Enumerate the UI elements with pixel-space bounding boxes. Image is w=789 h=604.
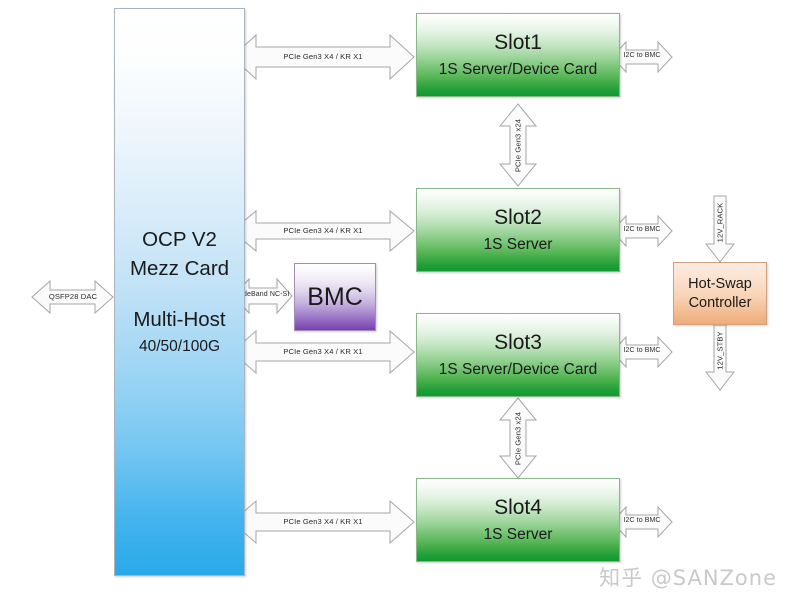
hot-swap-controller-block[interactable]: Hot-Swap Controller [673, 262, 767, 325]
mezz-card-line1: OCP V2 [142, 225, 217, 254]
slot3-subtitle: 1S Server/Device Card [439, 357, 598, 382]
slot4-block[interactable]: Slot4 1S Server [416, 478, 620, 562]
slot1-title: Slot1 [494, 29, 542, 57]
slot2-block[interactable]: Slot2 1S Server [416, 188, 620, 272]
hotswap-line2: Controller [689, 294, 752, 313]
i2c-slot4-label: I2C to BMC [613, 517, 671, 524]
pcie-slot1-label: PCIe Gen3 X4 / KR X1 [253, 52, 393, 61]
slot3-block[interactable]: Slot3 1S Server/Device Card [416, 313, 620, 397]
mezz-card-line4: 40/50/100G [139, 334, 220, 360]
power-out-label: 12V_STBY [716, 324, 725, 378]
i2c-slot3-label: I2C to BMC [613, 347, 671, 354]
i2c-slot2-label: I2C to BMC [613, 226, 671, 233]
mezz-card-line3: Multi-Host [133, 305, 225, 334]
pcie-x24-bottom-label: PCIe Gen3 x24 [514, 407, 523, 471]
slot1-block[interactable]: Slot1 1S Server/Device Card [416, 13, 620, 97]
diagram-canvas: QSFP28 DAC PCIe Gen3 X4 / KR X1 PCIe Gen… [0, 0, 789, 604]
qsfp-label: QSFP28 DAC [44, 292, 102, 301]
ocp-mezz-card-block[interactable]: OCP V2 Mezz Card Multi-Host 40/50/100G [114, 8, 245, 576]
pcie-x24-top-label: PCIe Gen3 x24 [514, 114, 523, 178]
watermark: 知乎 @SANZone [599, 562, 777, 592]
i2c-slot1-label: I2C to BMC [613, 52, 671, 59]
pcie-slot4-label: PCIe Gen3 X4 / KR X1 [253, 517, 393, 526]
slot1-subtitle: 1S Server/Device Card [439, 57, 598, 82]
slot4-title: Slot4 [494, 494, 542, 522]
mezz-card-line2: Mezz Card [130, 254, 229, 283]
slot2-subtitle: 1S Server [484, 232, 553, 257]
bmc-label: BMC [307, 282, 363, 312]
hotswap-line1: Hot-Swap [688, 275, 752, 294]
slot2-title: Slot2 [494, 204, 542, 232]
power-in-label: 12V_RACK [716, 196, 725, 250]
slot4-subtitle: 1S Server [484, 522, 553, 547]
slot3-title: Slot3 [494, 329, 542, 357]
pcie-slot3-label: PCIe Gen3 X4 / KR X1 [253, 347, 393, 356]
bmc-block[interactable]: BMC [294, 263, 376, 331]
pcie-slot2-label: PCIe Gen3 X4 / KR X1 [253, 226, 393, 235]
